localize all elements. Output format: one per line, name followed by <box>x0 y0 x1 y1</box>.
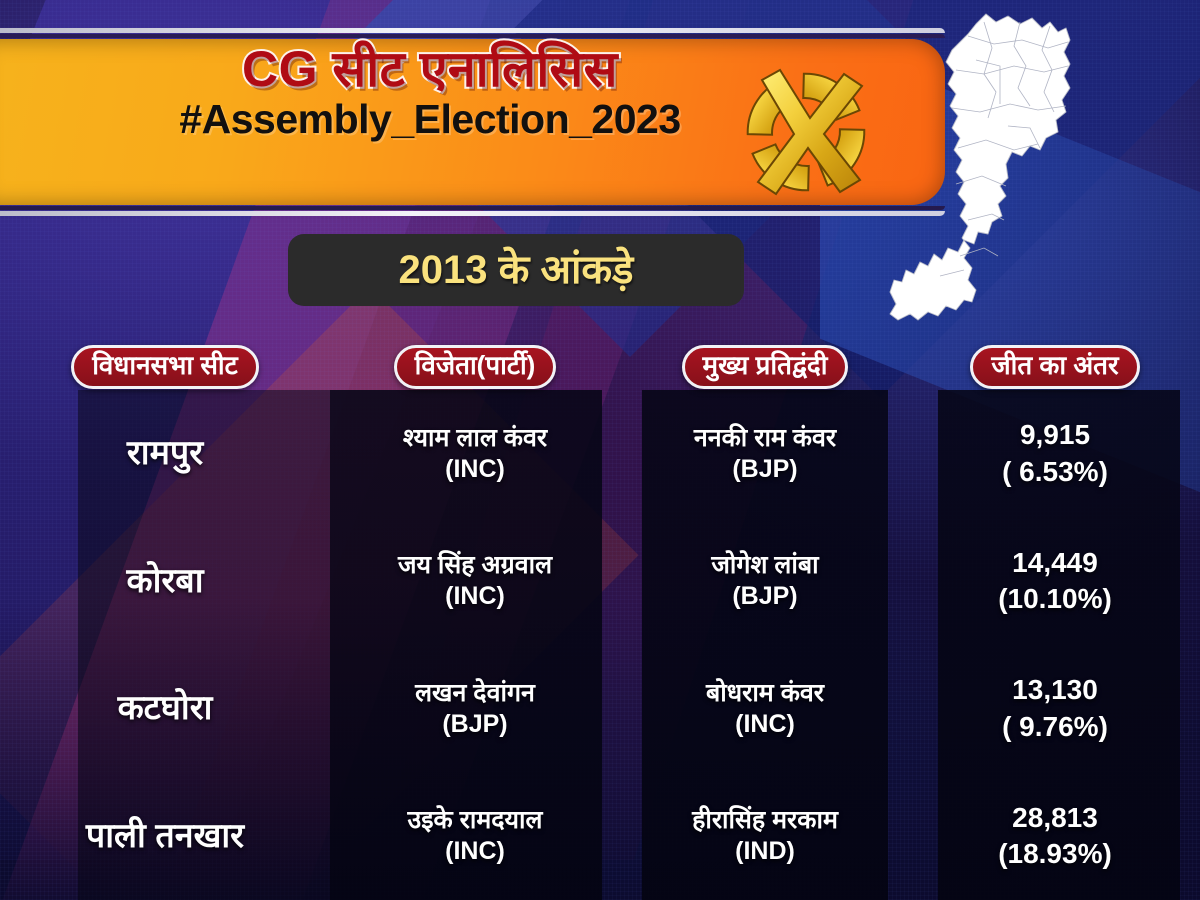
table-row: जोगेश लांबा (BJP) <box>620 518 910 646</box>
margin-votes: 14,449 <box>1012 545 1098 581</box>
winner-party: (INC) <box>445 836 505 867</box>
column-cells: 9,915 ( 6.53%) 14,449 (10.10%) 13,130 ( … <box>910 390 1200 900</box>
column-header-label: विधानसभा सीट <box>71 345 259 389</box>
table-row: रामपुर <box>0 390 330 518</box>
margin-votes: 28,813 <box>1012 800 1098 836</box>
table-column-seat: विधानसभा सीट रामपुर कोरबा कटघोरा पाली तन… <box>0 344 330 900</box>
table-row: लखन देवांगन (BJP) <box>330 645 620 773</box>
table-row: 14,449 (10.10%) <box>910 518 1200 646</box>
winner-name: जय सिंह अग्रवाल <box>398 550 552 581</box>
page-title-hindi: CG सीट एनालिसिस <box>130 44 730 94</box>
seat-name: कटघोरा <box>118 689 213 728</box>
margin-votes: 13,130 <box>1012 672 1098 708</box>
banner-border-bottom-dark <box>0 206 945 210</box>
table-row: 13,130 ( 9.76%) <box>910 645 1200 773</box>
column-cells: श्याम लाल कंवर (INC) जय सिंह अग्रवाल (IN… <box>330 390 620 900</box>
table-row: उइके रामदयाल (INC) <box>330 773 620 900</box>
table-column-margin: जीत का अंतर 9,915 ( 6.53%) 14,449 (10.10… <box>910 344 1200 900</box>
table-row: ननकी राम कंवर (BJP) <box>620 390 910 518</box>
column-header-label: विजेता(पार्टी) <box>394 345 557 389</box>
runner-up-party: (BJP) <box>732 581 797 612</box>
column-header-seat: विधानसभा सीट <box>0 344 330 390</box>
seat-name: कोरबा <box>126 562 203 601</box>
banner-border-bottom-light <box>0 211 945 216</box>
column-header-label: जीत का अंतर <box>970 345 1139 389</box>
margin-percent: ( 6.53%) <box>1002 454 1108 490</box>
table-column-winner: विजेता(पार्टी) श्याम लाल कंवर (INC) जय स… <box>330 344 620 900</box>
column-header-runner-up: मुख्य प्रतिद्वंदी <box>620 344 910 390</box>
winner-party: (BJP) <box>442 709 507 740</box>
winner-party: (INC) <box>445 581 505 612</box>
runner-up-party: (INC) <box>735 709 795 740</box>
table-row: 9,915 ( 6.53%) <box>910 390 1200 518</box>
subtitle-label: 2013 के आंकड़े <box>399 250 634 290</box>
margin-percent: (10.10%) <box>998 581 1112 617</box>
runner-up-name: हीरासिंह मरकाम <box>692 805 838 836</box>
table-row: 28,813 (18.93%) <box>910 773 1200 900</box>
column-cells: रामपुर कोरबा कटघोरा पाली तनखार <box>0 390 330 900</box>
column-header-label: मुख्य प्रतिद्वंदी <box>682 345 849 389</box>
table-row: जय सिंह अग्रवाल (INC) <box>330 518 620 646</box>
seat-name: पाली तनखार <box>86 817 244 856</box>
vote-stamp-icon <box>736 62 876 202</box>
column-cells: ननकी राम कंवर (BJP) जोगेश लांबा (BJP) बो… <box>620 390 910 900</box>
banner-text-block: CG सीट एनालिसिस #Assembly_Election_2023 <box>130 44 730 141</box>
runner-up-name: बोधराम कंवर <box>706 678 824 709</box>
margin-votes: 9,915 <box>1020 417 1090 453</box>
margin-percent: ( 9.76%) <box>1002 709 1108 745</box>
winner-name: लखन देवांगन <box>415 678 535 709</box>
winner-name: उइके रामदयाल <box>408 805 543 836</box>
seat-name: रामपुर <box>127 434 203 473</box>
table-column-runner-up: मुख्य प्रतिद्वंदी ननकी राम कंवर (BJP) जो… <box>620 344 910 900</box>
runner-up-name: ननकी राम कंवर <box>694 423 836 454</box>
results-table: विधानसभा सीट रामपुर कोरबा कटघोरा पाली तन… <box>0 344 1200 900</box>
table-row: कटघोरा <box>0 645 330 773</box>
table-row: पाली तनखार <box>0 773 330 900</box>
page-title-hashtag: #Assembly_Election_2023 <box>130 98 730 141</box>
winner-name: श्याम लाल कंवर <box>403 423 547 454</box>
margin-percent: (18.93%) <box>998 836 1112 872</box>
runner-up-party: (BJP) <box>732 454 797 485</box>
column-header-winner: विजेता(पार्टी) <box>330 344 620 390</box>
table-row: कोरबा <box>0 518 330 646</box>
winner-party: (INC) <box>445 454 505 485</box>
banner-border-top-dark <box>0 34 945 38</box>
banner-border-top-light <box>0 28 945 33</box>
subtitle-pill: 2013 के आंकड़े <box>288 234 744 306</box>
column-header-margin: जीत का अंतर <box>910 344 1200 390</box>
runner-up-name: जोगेश लांबा <box>711 550 818 581</box>
table-row: हीरासिंह मरकाम (IND) <box>620 773 910 900</box>
table-row: श्याम लाल कंवर (INC) <box>330 390 620 518</box>
runner-up-party: (IND) <box>735 836 795 867</box>
table-row: बोधराम कंवर (INC) <box>620 645 910 773</box>
